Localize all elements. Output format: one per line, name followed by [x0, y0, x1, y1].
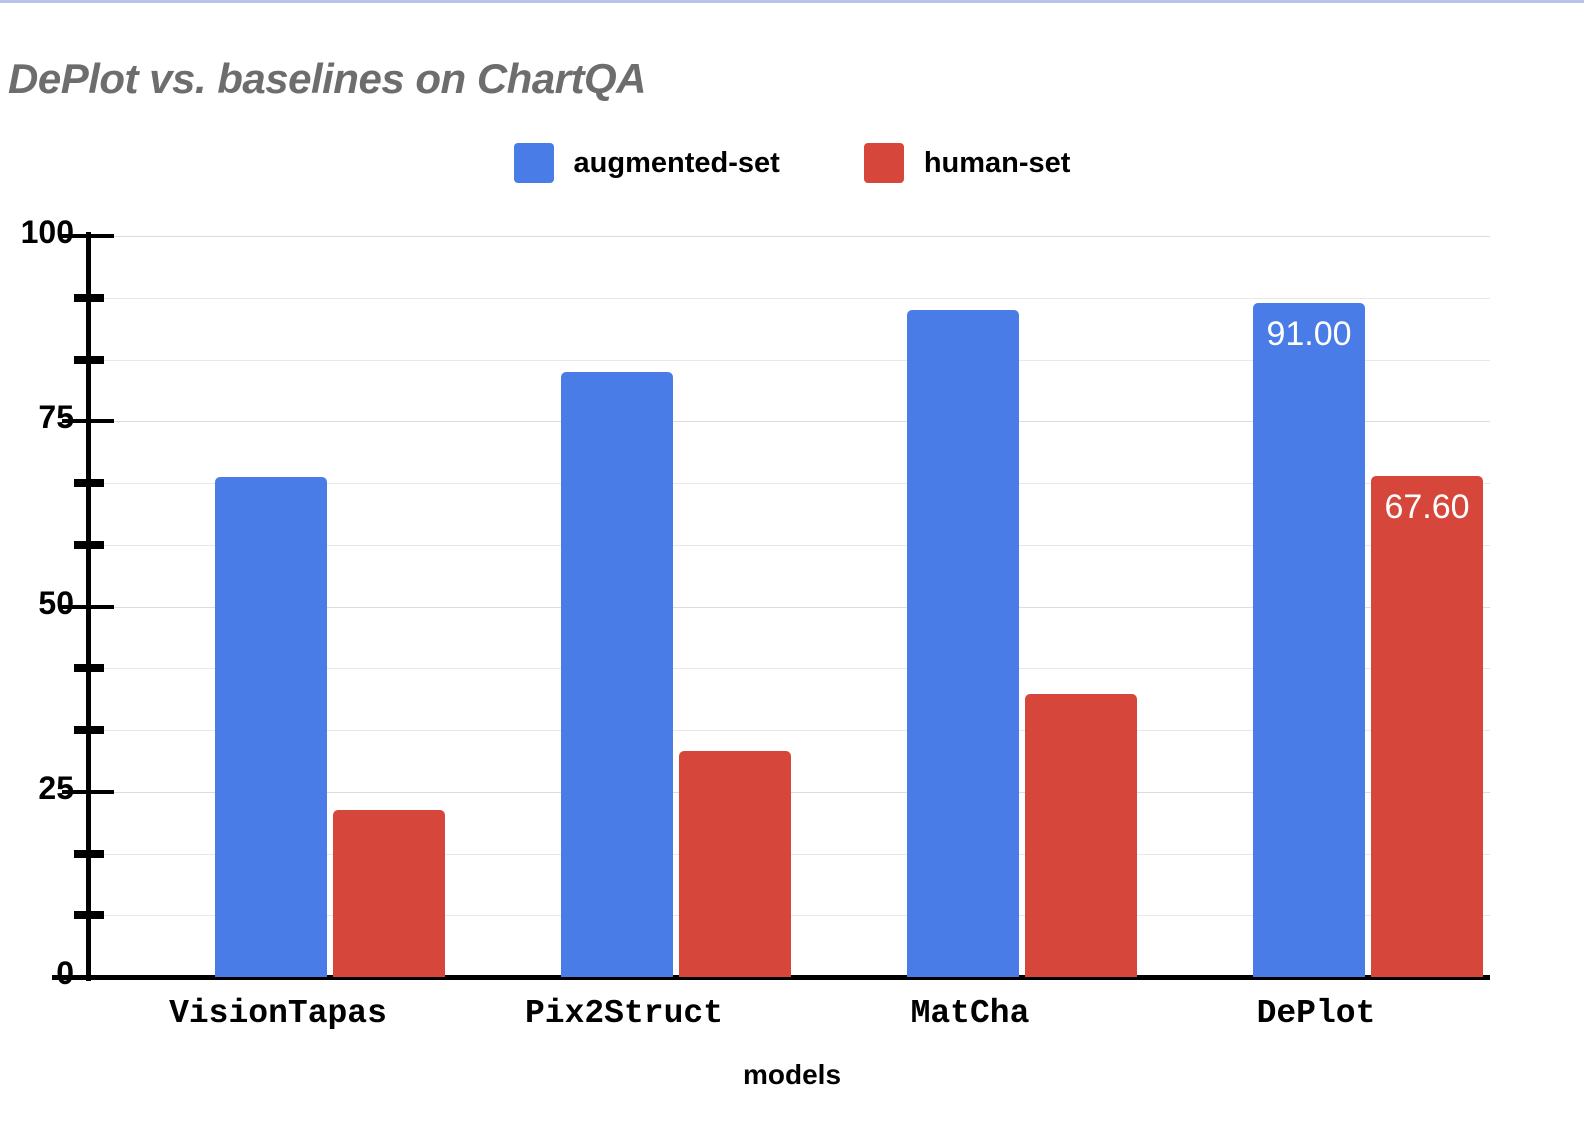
legend-label-augmented-set: augmented-set [574, 147, 780, 180]
x-axis-label-deplot: DePlot [1203, 995, 1429, 1032]
bar-value-label: 67.60 [1371, 490, 1483, 524]
y-axis-tick-label: 50 [38, 585, 74, 622]
legend-item-augmented-set[interactable]: augmented-set [514, 143, 780, 183]
blue-square-swatch-icon [514, 143, 554, 183]
bar-deplot-human-set[interactable]: 67.60 [1371, 476, 1483, 977]
chart-page: DePlot vs. baselines on ChartQA augmente… [0, 0, 1584, 1142]
bar-visiontapas-augmented-set[interactable] [215, 477, 327, 977]
bar-visiontapas-human-set[interactable] [333, 810, 445, 977]
x-axis-label-pix2struct: Pix2Struct [511, 995, 737, 1032]
y-axis-tick-label: 25 [38, 770, 74, 807]
bar-pix2struct-human-set[interactable] [679, 751, 791, 977]
bar-pix2struct-augmented-set[interactable] [561, 372, 673, 977]
bar-matcha-human-set[interactable] [1025, 694, 1137, 977]
bar-value-label: 91.00 [1253, 317, 1365, 351]
x-axis-label-visiontapas: VisionTapas [165, 995, 391, 1032]
red-square-swatch-icon [864, 143, 904, 183]
chart-legend: augmented-set human-set [0, 143, 1584, 183]
x-axis-title: models [0, 1059, 1584, 1091]
bar-matcha-augmented-set[interactable] [907, 310, 1019, 977]
y-axis-tick-label: 75 [38, 399, 74, 436]
legend-item-human-set[interactable]: human-set [864, 143, 1071, 183]
plot-area: 91.0067.60 [90, 236, 1490, 977]
y-axis-tick-label: 0 [56, 955, 74, 992]
y-axis-tick-label: 100 [21, 214, 74, 251]
x-axis-label-matcha: MatCha [857, 995, 1083, 1032]
legend-label-human-set: human-set [924, 147, 1071, 180]
page-title: DePlot vs. baselines on ChartQA [8, 55, 646, 103]
bar-deplot-augmented-set[interactable]: 91.00 [1253, 303, 1365, 977]
